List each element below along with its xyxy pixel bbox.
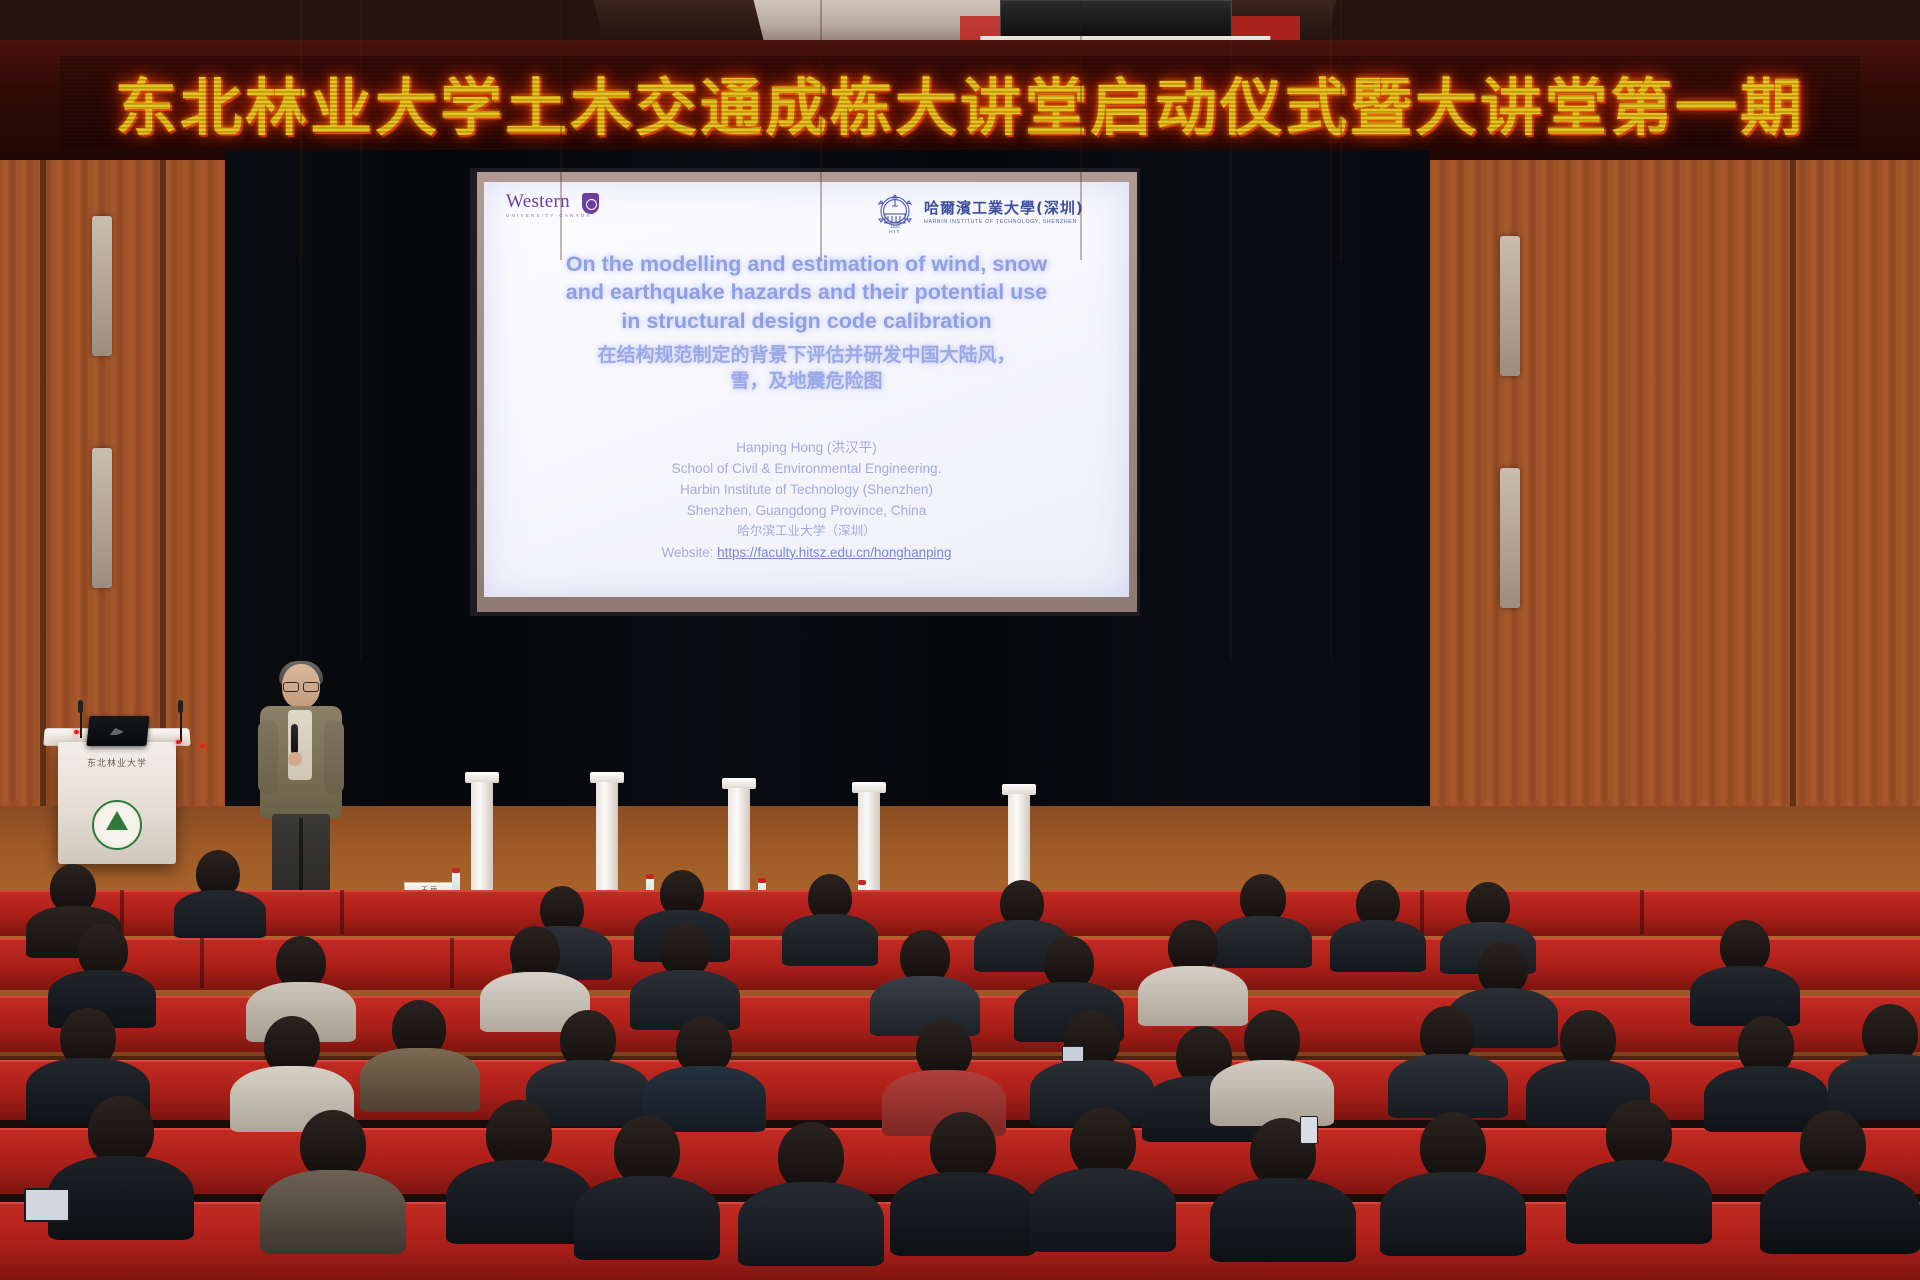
audience-shoulders — [260, 1170, 406, 1254]
slide-author-block: Hanping Hong (洪汉平) School of Civil & Env… — [514, 437, 1099, 564]
hit-gear-crest-icon: 1920 HIT — [873, 192, 917, 234]
presentation-slide: Western UNIVERSITY·CANADA 1920 HIT — [484, 182, 1129, 597]
floor-plank-seam — [1080, 0, 1082, 260]
audience-shoulders — [738, 1182, 884, 1266]
hit-crest-abbr: HIT — [889, 229, 901, 234]
auditorium-photo: 东北林业大学土木交通成栋大讲堂启动仪式暨大讲堂第一期 Western UNIVE… — [0, 0, 1920, 1280]
western-subtitle: UNIVERSITY·CANADA — [506, 213, 601, 218]
audience-shoulders — [1210, 1178, 1356, 1262]
handheld-microphone — [291, 724, 298, 754]
speaker-arm-right — [324, 720, 344, 794]
author-affiliation: School of Civil & Environmental Engineer… — [514, 458, 1099, 479]
slide-title-line: in structural design code calibration — [514, 307, 1099, 335]
microphone-head — [178, 700, 183, 713]
microphone-indicator-light — [200, 744, 205, 748]
audience-shoulders — [1828, 1054, 1920, 1120]
hit-logo: 1920 HIT 哈爾濱工業大學(深圳) HARBIN INSTITUTE OF… — [873, 190, 1113, 236]
slide-title: On the modelling and estimation of wind,… — [514, 250, 1099, 335]
seat-divider — [340, 890, 344, 934]
audience-shoulders — [1760, 1170, 1920, 1254]
audience-shoulders — [574, 1176, 720, 1260]
western-university-logo: Western UNIVERSITY·CANADA — [506, 192, 601, 226]
slide-title-chinese: 在结构规范制定的背景下评估并研发中国大陆风， 雪，及地震危险图 — [514, 342, 1099, 394]
author-location: Shenzhen, Guangdong Province, China — [514, 500, 1099, 521]
laptop-logo-icon — [110, 728, 125, 735]
website-link[interactable]: https://faculty.hitsz.edu.cn/honghanping — [717, 545, 951, 560]
microphone-stand — [180, 708, 182, 742]
audience-shoulders — [360, 1048, 480, 1112]
laptop[interactable] — [86, 716, 149, 746]
microphone-indicator-light — [176, 740, 181, 744]
audience-shoulders — [1214, 916, 1312, 968]
speaker-hand — [288, 752, 302, 766]
audience-shoulders — [1030, 1168, 1176, 1252]
speaker-glasses-icon — [283, 682, 319, 690]
wall-light-fixture — [1500, 468, 1520, 608]
microphone-head — [78, 700, 83, 713]
audience-shoulders — [1380, 1172, 1526, 1256]
hit-chinese-name: 哈爾濱工業大學(深圳) — [924, 201, 1084, 217]
audience-shoulders — [890, 1172, 1036, 1256]
audience-tablet-screen — [24, 1188, 70, 1222]
curtain-fold — [1330, 0, 1332, 660]
audience-shoulders — [630, 970, 740, 1030]
floor-plank-seam — [820, 0, 822, 260]
audience-shoulders — [174, 890, 266, 938]
podium-label: 东北林业大学 — [58, 756, 176, 769]
curtain-fold — [1230, 0, 1232, 660]
audience-shoulders — [782, 914, 878, 966]
floor-plank-seam — [300, 0, 302, 260]
speaker-arm-left — [258, 720, 278, 794]
western-shield-icon — [582, 193, 599, 214]
audience-phone-screen — [1300, 1116, 1318, 1144]
wall-light-fixture — [92, 216, 112, 356]
slide-title-line: and earthquake hazards and their potenti… — [514, 278, 1099, 306]
seat-divider — [1640, 890, 1644, 934]
floor-plank-seam — [1340, 0, 1342, 260]
audience-shoulders — [1690, 966, 1800, 1026]
curtain-fold — [360, 0, 362, 660]
author-affiliation: Harbin Institute of Technology (Shenzhen… — [514, 479, 1099, 500]
audience-shoulders — [1566, 1160, 1712, 1244]
seat-divider — [450, 938, 454, 988]
slide-title-cn-line: 在结构规范制定的背景下评估并研发中国大陆风， — [514, 342, 1099, 368]
wall-light-fixture — [1500, 236, 1520, 376]
wall-light-fixture — [92, 448, 112, 588]
led-banner: 东北林业大学土木交通成栋大讲堂启动仪式暨大讲堂第一期 — [60, 56, 1860, 148]
website-label: Website: — [662, 545, 714, 560]
audience-phone-screen — [1062, 1046, 1084, 1062]
floor-plank-seam — [560, 0, 562, 260]
podium: 东北林业大学 — [58, 742, 176, 864]
hit-english-name: HARBIN INSTITUTE OF TECHNOLOGY, SHENZHEN — [924, 219, 1084, 225]
slide-title-line: On the modelling and estimation of wind,… — [514, 250, 1099, 278]
wall-seam — [1790, 150, 1796, 850]
author-name: Hanping Hong (洪汉平) — [514, 437, 1099, 458]
seat-row — [0, 890, 1920, 936]
audience-shoulders — [446, 1160, 592, 1244]
slide-title-cn-line: 雪，及地震危险图 — [514, 368, 1099, 394]
slide-website-line: Website: https://faculty.hitsz.edu.cn/ho… — [514, 543, 1099, 564]
audience-shoulders — [1388, 1054, 1508, 1118]
seat-divider — [1420, 890, 1424, 934]
seat-divider — [200, 938, 204, 988]
led-banner-text: 东北林业大学土木交通成栋大讲堂启动仪式暨大讲堂第一期 — [115, 57, 1805, 147]
audience-shoulders — [1330, 920, 1426, 972]
audience-area — [0, 860, 1920, 1280]
microphone-indicator-light — [74, 730, 79, 734]
audience-shoulders — [1138, 966, 1248, 1026]
university-emblem-icon — [92, 800, 142, 850]
author-affiliation-chinese: 哈尔滨工业大学（深圳） — [514, 521, 1099, 541]
